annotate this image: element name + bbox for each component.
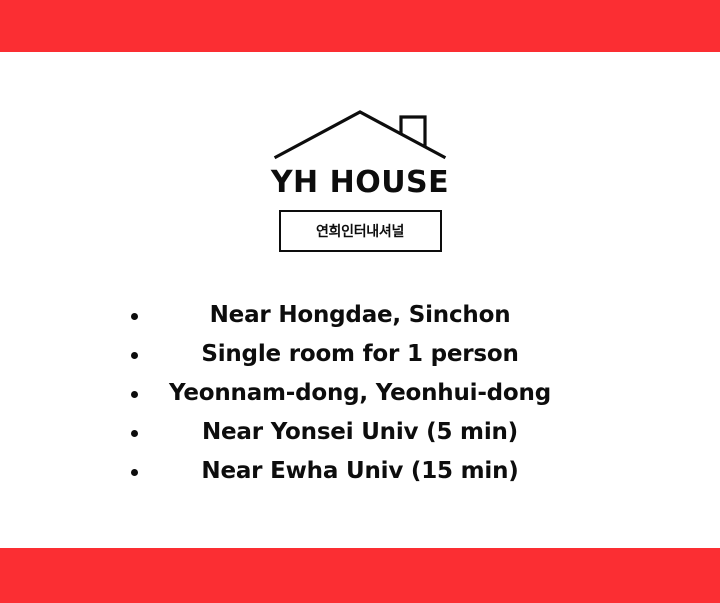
bullet-dot-icon	[131, 313, 138, 320]
poster-canvas: YH HOUSE 연희인터내셔널 Near Hongdae, Sinchon S…	[0, 0, 720, 603]
brand-subtitle-korean: 연희인터내셔널	[316, 221, 404, 241]
list-item: Single room for 1 person	[0, 335, 720, 374]
list-item: Near Hongdae, Sinchon	[0, 296, 720, 335]
bullet-dot-icon	[131, 469, 138, 476]
list-item: Yeonnam-dong, Yeonhui-dong	[0, 374, 720, 413]
bullet-dot-icon	[131, 430, 138, 437]
brand-subtitle-box: 연희인터내셔널	[279, 210, 442, 252]
feature-text: Near Yonsei Univ (5 min)	[0, 413, 720, 452]
logo-block: YH HOUSE 연희인터내셔널	[0, 105, 720, 252]
bullet-dot-icon	[131, 352, 138, 359]
bottom-red-banner	[0, 548, 720, 603]
feature-text: Single room for 1 person	[0, 335, 720, 374]
feature-list: Near Hongdae, Sinchon Single room for 1 …	[0, 296, 720, 491]
list-item: Near Ewha Univ (15 min)	[0, 452, 720, 491]
top-red-banner	[0, 0, 720, 52]
brand-title: YH HOUSE	[0, 167, 720, 199]
house-roof-chimney-icon	[270, 105, 450, 163]
feature-text: Near Ewha Univ (15 min)	[0, 452, 720, 491]
list-item: Near Yonsei Univ (5 min)	[0, 413, 720, 452]
feature-text: Near Hongdae, Sinchon	[0, 296, 720, 335]
feature-text: Yeonnam-dong, Yeonhui-dong	[0, 374, 720, 413]
bullet-dot-icon	[131, 391, 138, 398]
